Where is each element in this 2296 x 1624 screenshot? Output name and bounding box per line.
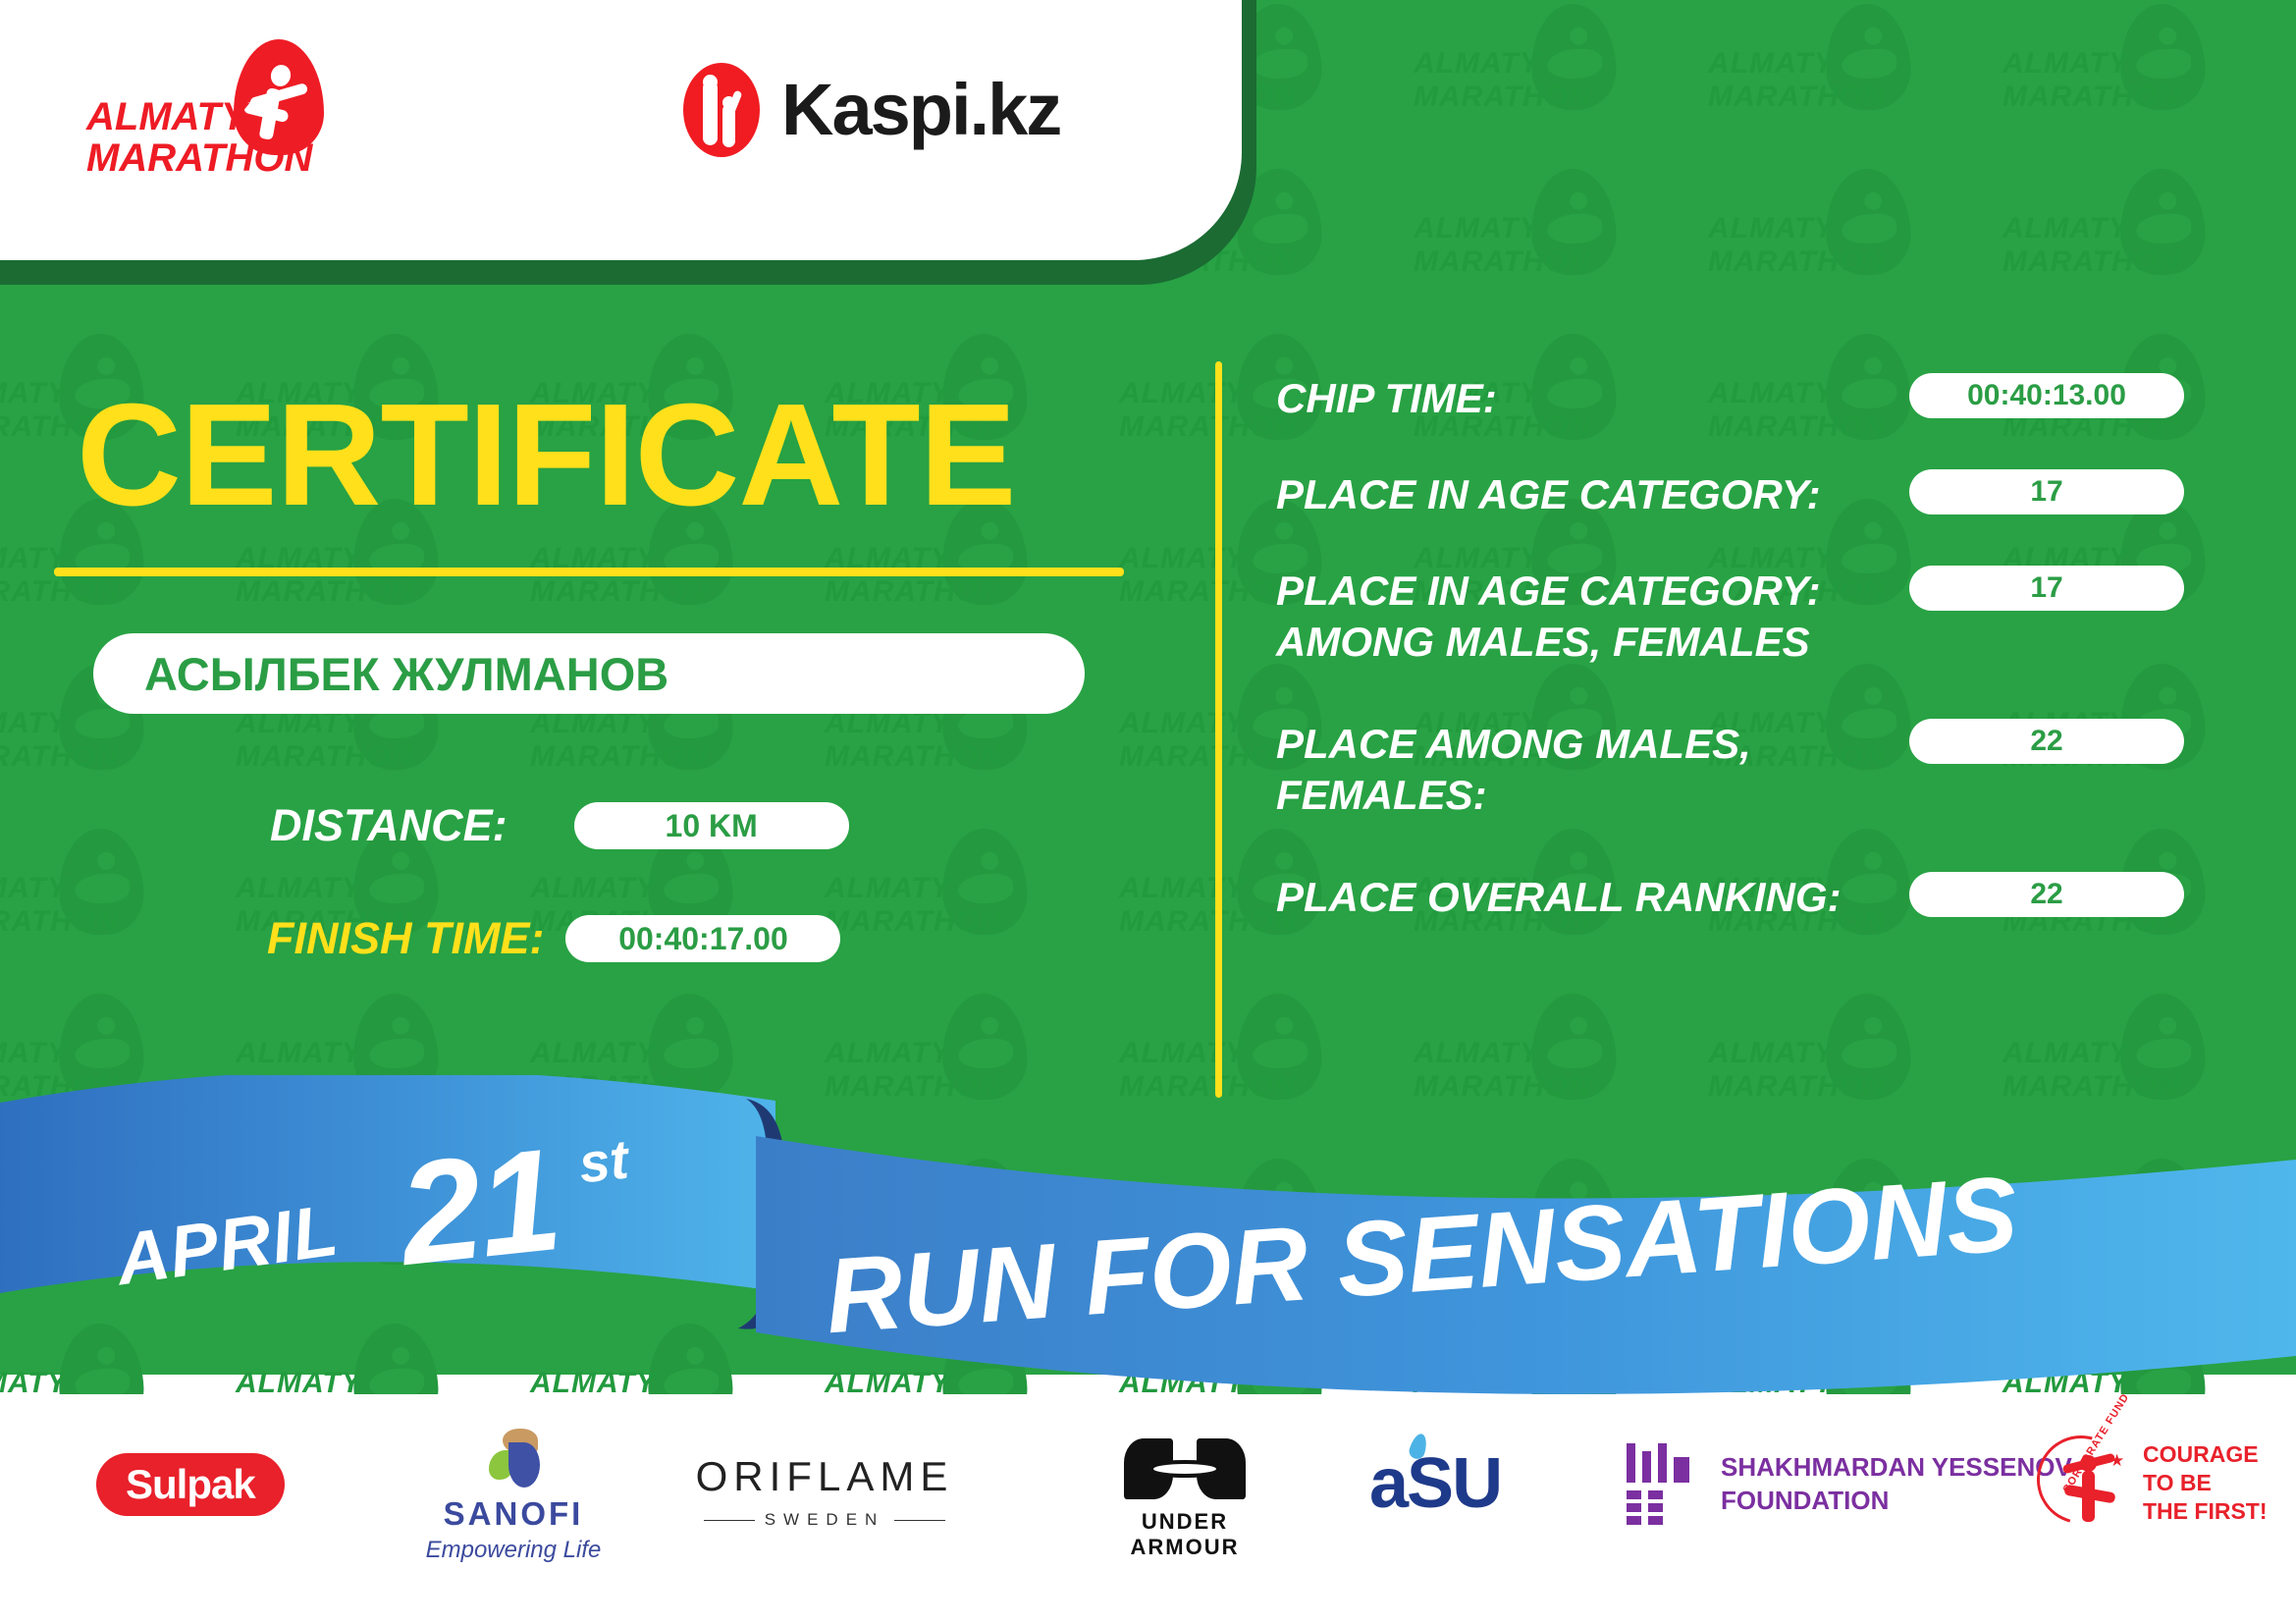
kaspi-adult-body (703, 81, 718, 145)
stat-label: PLACE IN AGE CATEGORY: AMONG MALES, FEMA… (1276, 566, 1909, 668)
sponsor-courage-fund: CORPORATE FUND ★ COURAGE TO BE THE FIRST… (2037, 1434, 2268, 1532)
kaspi-family-icon (677, 63, 768, 157)
stat-row-place-age-category: PLACE IN AGE CATEGORY: 17 (1276, 469, 2184, 520)
sponsor-yessenov-foundation: SHAKHMARDAN YESSENOV FOUNDATION (1625, 1443, 2072, 1524)
athlete-name-field: АСЫЛБЕК ЖУЛМАНОВ (93, 633, 1085, 714)
sponsor-sulpak: Sulpak (96, 1453, 285, 1516)
finish-time-row: FINISH TIME: 00:40:17.00 (267, 913, 840, 964)
certificate-page: ALMATYMARATHONALMATYMARATHONALMATYMARATH… (0, 0, 2296, 1624)
yessenov-foundation-logo (1625, 1443, 1697, 1524)
stat-label: PLACE AMONG MALES, FEMALES: (1276, 719, 1909, 821)
stat-label: PLACE OVERALL RANKING: (1276, 872, 1909, 923)
yessenov-bar (1674, 1457, 1689, 1483)
under-armour-wordmark: UNDER ARMOUR (1092, 1509, 1278, 1560)
courage-line3: THE FIRST! (2143, 1497, 2268, 1526)
courage-arc (2021, 1420, 2142, 1541)
stat-row-place-overall: PLACE OVERALL RANKING: 22 (1276, 872, 2184, 923)
stats-panel: CHIP TIME: 00:40:13.00 PLACE IN AGE CATE… (1276, 373, 2184, 968)
stat-row-place-among-gender: PLACE AMONG MALES, FEMALES: 22 (1276, 719, 2184, 821)
finish-time-value: 00:40:17.00 (565, 915, 840, 962)
stat-value: 22 (1909, 872, 2184, 917)
stat-row-chip-time: CHIP TIME: 00:40:13.00 (1276, 373, 2184, 424)
sulpak-logo: Sulpak (96, 1453, 285, 1516)
yessenov-square (1627, 1503, 1641, 1512)
stat-value: 22 (1909, 719, 2184, 764)
athlete-name-value: АСЫЛБЕК ЖУЛМАНОВ (144, 647, 668, 701)
almaty-marathon-wordmark: ALMATY MARATHON (86, 96, 312, 179)
ribbon-day: 21 (393, 1116, 567, 1299)
yessenov-wordmark: SHAKHMARDAN YESSENOV FOUNDATION (1721, 1450, 2072, 1517)
stat-label: CHIP TIME: (1276, 373, 1909, 424)
stat-value: 17 (1909, 469, 2184, 514)
oriflame-tagline: SWEDEN (687, 1510, 962, 1530)
sponsor-asu: aSU (1369, 1443, 1501, 1524)
stat-value: 17 (1909, 566, 2184, 611)
kaspi-wordmark: Kaspi.kz (781, 74, 1060, 146)
courage-fund-logo: CORPORATE FUND ★ (2037, 1434, 2131, 1532)
almaty-marathon-logo: ALMATY MARATHON (86, 47, 342, 165)
distance-row: DISTANCE: 10 KM (270, 800, 849, 851)
yessenov-bar (1627, 1443, 1635, 1483)
asu-wordmark: aSU (1369, 1443, 1501, 1524)
sanofi-wordmark: SANOFI (410, 1495, 616, 1533)
kaspi-oval-shape (683, 63, 760, 157)
yessenov-square (1627, 1490, 1641, 1499)
distance-label: DISTANCE: (270, 800, 507, 851)
stat-row-place-age-category-gender: PLACE IN AGE CATEGORY: AMONG MALES, FEMA… (1276, 566, 2184, 668)
sponsor-sanofi: SANOFI Empowering Life (410, 1429, 616, 1564)
courage-wordmark: COURAGE TO BE THE FIRST! (2143, 1440, 2268, 1526)
yessenov-square (1627, 1516, 1641, 1525)
ribbon-day-suffix: st (576, 1127, 631, 1196)
sanofi-tagline: Empowering Life (410, 1537, 616, 1564)
title-underline (54, 568, 1124, 576)
page-title: CERTIFICATE (77, 383, 1015, 528)
courage-line2: TO BE (2143, 1469, 2268, 1497)
yessenov-bar (1658, 1443, 1667, 1483)
kaspi-child-body (722, 104, 735, 147)
ua-center-bar-inner (1153, 1464, 1216, 1474)
yessenov-square (1648, 1516, 1663, 1525)
distance-value: 10 KM (574, 802, 849, 849)
yessenov-square (1648, 1490, 1663, 1499)
logo-line-almaty: ALMATY (86, 96, 312, 137)
under-armour-logo (1124, 1438, 1246, 1499)
logo-line-marathon: MARATHON (86, 137, 312, 179)
sponsor-oriflame: ORIFLAME SWEDEN (687, 1453, 962, 1530)
sanofi-logo (479, 1429, 548, 1489)
finish-time-label: FINISH TIME: (267, 913, 544, 964)
yessenov-square (1648, 1503, 1663, 1512)
yessenov-line2: FOUNDATION (1721, 1484, 2072, 1517)
sponsor-under-armour: UNDER ARMOUR (1092, 1438, 1278, 1560)
courage-line1: COURAGE (2143, 1440, 2268, 1469)
yessenov-line1: SHAKHMARDAN YESSENOV (1721, 1450, 2072, 1484)
stat-label: PLACE IN AGE CATEGORY: (1276, 469, 1909, 520)
vertical-divider (1215, 361, 1222, 1098)
courage-figure-head (2080, 1455, 2097, 1472)
sanofi-blue-shape (508, 1442, 540, 1488)
yessenov-bar (1642, 1451, 1651, 1483)
stat-value: 00:40:13.00 (1909, 373, 2184, 418)
runner-head-shape (268, 62, 294, 88)
kaspi-logo: Kaspi.kz (677, 61, 1060, 159)
oriflame-wordmark: ORIFLAME (687, 1453, 962, 1500)
courage-star-icon: ★ (2109, 1451, 2124, 1471)
asu-text: aSU (1369, 1444, 1501, 1523)
